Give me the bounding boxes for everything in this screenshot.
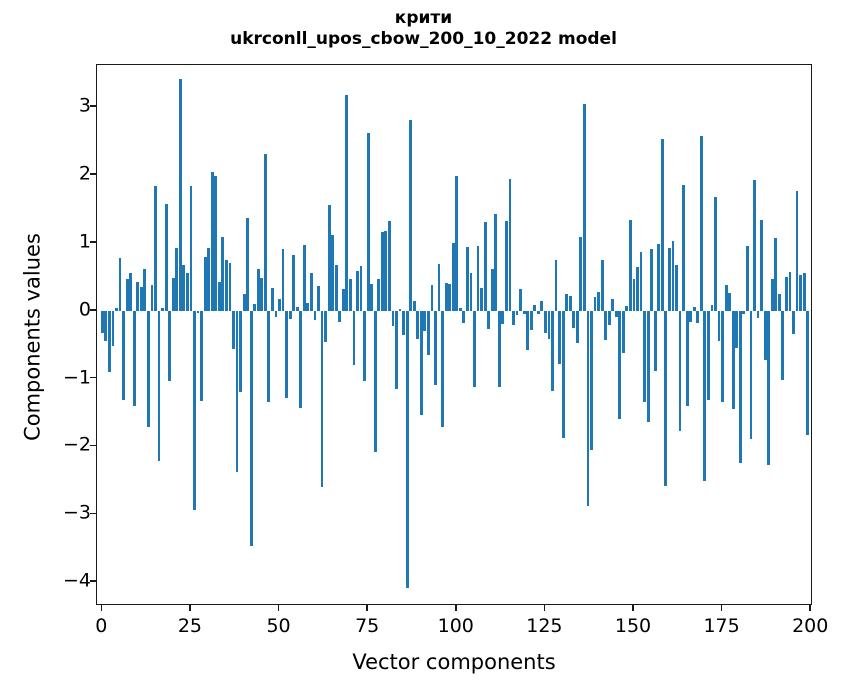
bar xyxy=(477,246,480,310)
bar xyxy=(675,265,678,310)
bar xyxy=(253,304,256,311)
bar xyxy=(657,244,660,311)
bar xyxy=(409,120,412,311)
bar xyxy=(569,296,572,310)
plot-axes xyxy=(96,64,812,605)
bar xyxy=(328,205,331,311)
bar xyxy=(544,311,547,333)
bar xyxy=(434,311,437,385)
bar xyxy=(540,301,543,311)
bar xyxy=(668,248,671,310)
bar xyxy=(140,287,143,311)
bar xyxy=(739,311,742,463)
bar xyxy=(725,285,728,311)
bar xyxy=(732,311,735,409)
bar xyxy=(292,255,295,311)
bar xyxy=(246,218,249,311)
bar xyxy=(611,299,614,311)
bar xyxy=(587,311,590,506)
bar xyxy=(778,294,781,310)
bar xyxy=(416,311,419,340)
bar xyxy=(115,308,118,311)
bar xyxy=(484,222,487,311)
bar xyxy=(207,248,210,310)
bar xyxy=(303,245,306,311)
bar xyxy=(143,269,146,311)
bar xyxy=(636,267,639,311)
bar xyxy=(161,308,164,311)
bar xyxy=(487,311,490,329)
x-tick-mark xyxy=(809,605,811,611)
x-tick-mark xyxy=(544,605,546,611)
x-tick-mark xyxy=(455,605,457,611)
bar xyxy=(686,311,689,406)
bar xyxy=(147,311,150,428)
bar xyxy=(473,311,476,387)
bar xyxy=(420,311,423,415)
bar xyxy=(625,306,628,311)
bar xyxy=(558,311,561,365)
x-tick-mark xyxy=(366,605,368,611)
bar xyxy=(349,279,352,311)
bar xyxy=(108,311,111,372)
bar xyxy=(250,311,253,547)
bar xyxy=(151,285,154,311)
bar xyxy=(133,311,136,406)
bar xyxy=(197,311,200,313)
x-tick-mark xyxy=(278,605,280,611)
bar xyxy=(555,260,558,310)
bar xyxy=(243,294,246,311)
bar xyxy=(356,271,359,310)
y-axis-label: Components values xyxy=(21,67,45,608)
bar xyxy=(402,311,405,335)
bar xyxy=(533,305,536,310)
bar xyxy=(459,308,462,311)
bar xyxy=(505,221,508,311)
bar xyxy=(523,311,526,314)
bar xyxy=(604,311,607,340)
chart-title-line-2: ukrconll_upos_cbow_200_10_2022 model xyxy=(0,29,847,50)
bar xyxy=(750,311,753,439)
x-tick-label: 175 xyxy=(682,617,762,636)
bar xyxy=(494,214,497,310)
bar xyxy=(119,258,122,310)
matplotlib-figure: крити ukrconll_upos_cbow_200_10_2022 mod… xyxy=(0,0,847,696)
bar xyxy=(654,311,657,371)
bar xyxy=(742,311,745,314)
bar xyxy=(672,241,675,311)
bar xyxy=(377,279,380,310)
bar xyxy=(700,136,703,311)
bar xyxy=(579,237,582,310)
bar xyxy=(154,186,157,311)
bar xyxy=(530,311,533,331)
bar xyxy=(735,311,738,348)
x-tick-label: 50 xyxy=(239,617,319,636)
bar xyxy=(498,311,501,388)
bar xyxy=(126,279,129,311)
bar xyxy=(590,311,593,450)
bar xyxy=(643,311,646,402)
bar xyxy=(682,185,685,311)
bar xyxy=(158,311,161,461)
x-tick-label: 25 xyxy=(150,617,230,636)
bar xyxy=(462,311,465,323)
bar xyxy=(236,311,239,473)
bar xyxy=(331,235,334,311)
bar xyxy=(431,285,434,311)
bar xyxy=(703,311,706,481)
bar xyxy=(310,273,313,310)
bar xyxy=(165,204,168,311)
bar xyxy=(728,293,731,311)
bar xyxy=(381,232,384,311)
bar xyxy=(491,269,494,311)
bar xyxy=(264,154,267,311)
x-axis-label: Vector components xyxy=(96,650,812,674)
bar xyxy=(225,260,228,311)
bar xyxy=(501,311,504,324)
bar xyxy=(136,282,139,311)
bar xyxy=(629,220,632,310)
bar xyxy=(516,311,519,316)
bar xyxy=(452,243,455,311)
bar xyxy=(509,179,512,311)
x-tick-label: 75 xyxy=(327,617,407,636)
x-tick-label: 0 xyxy=(61,617,141,636)
bar xyxy=(689,311,692,323)
bar xyxy=(583,104,586,310)
bar xyxy=(335,265,338,311)
bar xyxy=(427,311,430,355)
bar xyxy=(232,311,235,350)
bar xyxy=(764,311,767,360)
bar xyxy=(572,311,575,328)
bar xyxy=(647,311,650,422)
bar xyxy=(260,278,263,311)
bar xyxy=(190,186,193,311)
bar xyxy=(353,311,356,365)
bar xyxy=(466,247,469,311)
bar xyxy=(214,176,217,310)
bar xyxy=(275,311,278,317)
bar xyxy=(388,221,391,311)
bar xyxy=(285,311,288,399)
bar xyxy=(551,311,554,392)
bar xyxy=(101,311,104,333)
bar xyxy=(753,180,756,311)
bar xyxy=(746,246,749,310)
bar xyxy=(679,311,682,431)
bar xyxy=(112,311,115,346)
bar xyxy=(622,311,625,353)
bar xyxy=(661,139,664,311)
bar xyxy=(221,237,224,311)
bar xyxy=(399,309,402,310)
bar xyxy=(565,294,568,311)
bar xyxy=(193,311,196,510)
bar xyxy=(392,311,395,326)
bar xyxy=(721,311,724,403)
x-tick-label: 100 xyxy=(416,617,496,636)
bar xyxy=(229,263,232,311)
bar xyxy=(271,288,274,311)
bar xyxy=(512,311,515,325)
bar xyxy=(664,311,667,486)
bar xyxy=(267,311,270,402)
x-tick-label: 125 xyxy=(504,617,584,636)
bar xyxy=(104,311,107,342)
bar xyxy=(774,238,777,311)
bar xyxy=(767,311,770,466)
bar xyxy=(601,260,604,310)
bar xyxy=(129,273,132,310)
bar xyxy=(122,311,125,400)
bar xyxy=(441,311,444,427)
bar xyxy=(200,311,203,401)
bar xyxy=(792,311,795,335)
bar xyxy=(384,231,387,310)
bar xyxy=(179,79,182,311)
bar xyxy=(299,311,302,408)
chart-title-line-1: крити xyxy=(0,8,847,29)
bar xyxy=(182,265,185,311)
bar xyxy=(789,272,792,311)
bar xyxy=(363,311,366,381)
bar xyxy=(367,133,370,311)
bar xyxy=(370,284,373,310)
bar xyxy=(615,311,618,317)
bar xyxy=(204,257,207,311)
bar xyxy=(448,284,451,310)
bar xyxy=(633,279,636,310)
bar xyxy=(640,252,643,311)
bar xyxy=(296,307,299,311)
bar xyxy=(423,311,426,331)
bar xyxy=(526,311,529,350)
bar xyxy=(168,311,171,382)
bar-series-crytu xyxy=(97,65,811,604)
bar xyxy=(360,266,363,311)
bar xyxy=(796,191,799,310)
chart-title: крити ukrconll_upos_cbow_200_10_2022 mod… xyxy=(0,8,847,50)
x-tick-label: 150 xyxy=(593,617,673,636)
bar xyxy=(714,197,717,311)
bar xyxy=(239,311,242,392)
bar xyxy=(803,273,806,311)
bar xyxy=(306,303,309,310)
bar xyxy=(186,273,189,310)
bar xyxy=(693,307,696,310)
bar xyxy=(257,269,260,311)
bar xyxy=(718,311,721,342)
bar xyxy=(711,305,714,311)
x-tick-mark xyxy=(721,605,723,611)
bar xyxy=(537,311,540,314)
bar xyxy=(172,278,175,311)
bar xyxy=(597,292,600,310)
bar xyxy=(324,311,327,342)
x-tick-mark xyxy=(632,605,634,611)
bar xyxy=(455,176,458,310)
bar xyxy=(445,283,448,311)
bar xyxy=(696,311,699,323)
bar xyxy=(760,220,763,310)
bar xyxy=(806,311,809,435)
bar xyxy=(338,311,341,323)
bar xyxy=(608,311,611,325)
bar xyxy=(278,299,281,311)
bar xyxy=(317,286,320,310)
bar xyxy=(413,301,416,311)
x-tick-label: 200 xyxy=(770,617,847,636)
bar xyxy=(480,288,483,311)
x-tick-mark xyxy=(189,605,191,611)
bar xyxy=(576,311,579,344)
bar xyxy=(771,279,774,310)
bar xyxy=(406,311,409,588)
bar xyxy=(289,311,292,319)
bar xyxy=(799,275,802,311)
bar xyxy=(321,311,324,487)
bar xyxy=(757,311,760,318)
bar xyxy=(282,249,285,311)
bar xyxy=(218,282,221,311)
bar xyxy=(707,311,710,401)
bar xyxy=(211,172,214,310)
bar xyxy=(175,248,178,310)
bar xyxy=(650,249,653,311)
x-tick-mark xyxy=(101,605,103,611)
bar xyxy=(785,277,788,311)
bar xyxy=(438,264,441,311)
bar xyxy=(594,297,597,311)
bar xyxy=(470,273,473,311)
bar xyxy=(548,311,551,339)
bar xyxy=(781,311,784,380)
bar xyxy=(374,311,377,452)
bar xyxy=(342,289,345,311)
bar xyxy=(395,311,398,389)
bar xyxy=(519,289,522,311)
bar xyxy=(562,311,565,439)
bar xyxy=(314,311,317,320)
bar xyxy=(618,311,621,419)
bar xyxy=(345,95,348,311)
